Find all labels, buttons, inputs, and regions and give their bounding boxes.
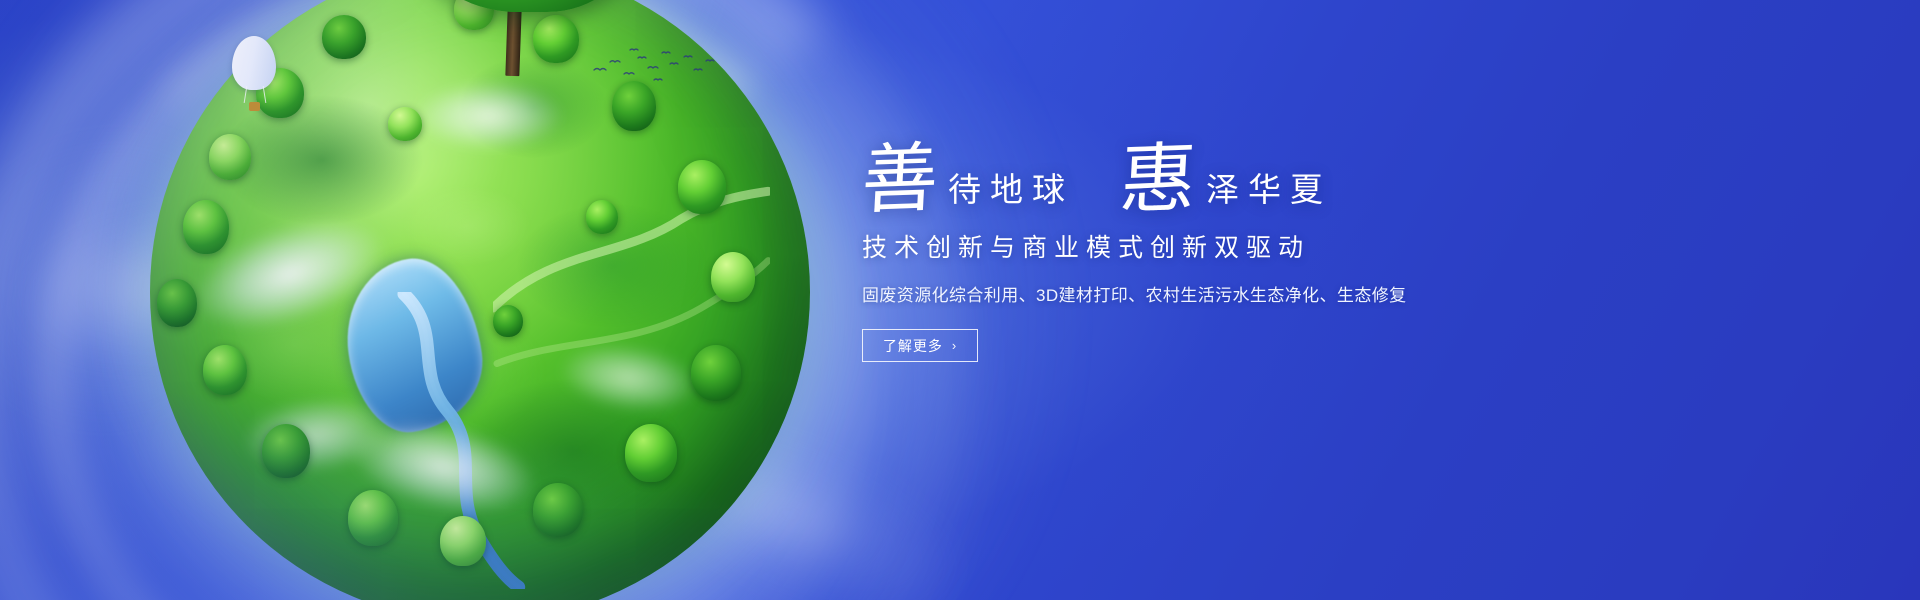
bird-flock-icon [590, 44, 720, 94]
tree [440, 516, 486, 566]
tree [493, 305, 523, 337]
hero-banner: 善 待地球 惠 泽华夏 技术创新与商业模式创新双驱动 固废资源化综合利用、3D建… [0, 0, 1920, 600]
learn-more-label: 了解更多 [883, 336, 943, 356]
tree [183, 200, 229, 254]
tree [209, 134, 251, 180]
tree [262, 424, 310, 478]
headline-brush-char-2: 惠 [1118, 143, 1202, 216]
balloon-rope [263, 86, 267, 103]
tree [533, 483, 583, 537]
tree [533, 15, 579, 63]
headline-text-2: 泽华夏 [1200, 173, 1332, 214]
banner-description: 固废资源化综合利用、3D建材打印、农村生活污水生态净化、生态修复 [862, 281, 1562, 306]
tree [322, 15, 366, 59]
balloon-basket [249, 102, 260, 111]
tree [691, 345, 741, 401]
tree [625, 424, 677, 482]
headline-text-1: 待地球 [942, 173, 1074, 214]
chevron-right-icon: › [952, 338, 957, 353]
tree [348, 490, 398, 546]
tree [388, 107, 422, 141]
hot-air-balloon-icon [232, 36, 276, 116]
tree [157, 279, 197, 327]
learn-more-button[interactable]: 了解更多 › [862, 329, 978, 362]
headline-brush-char-1: 善 [860, 143, 944, 216]
banner-copy: 善 待地球 惠 泽华夏 技术创新与商业模式创新双驱动 固废资源化综合利用、3D建… [862, 128, 1562, 362]
banner-subtitle: 技术创新与商业模式创新双驱动 [862, 228, 1562, 264]
tree [711, 252, 755, 302]
tree [586, 200, 618, 234]
balloon-envelope [232, 36, 276, 90]
banner-headline: 善 待地球 惠 泽华夏 [862, 128, 1562, 214]
surface-cloud [414, 81, 564, 151]
tree [678, 160, 726, 214]
tree [203, 345, 247, 395]
